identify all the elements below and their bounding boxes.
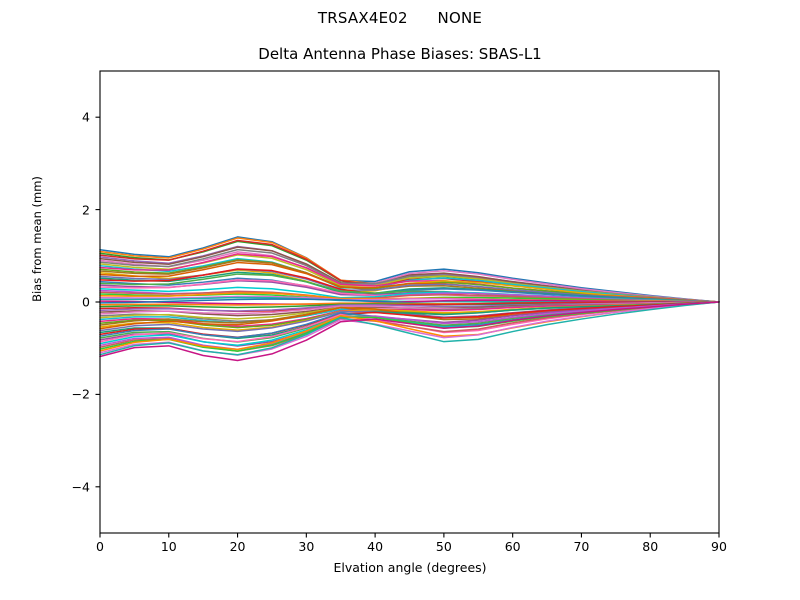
y-axis-label: Bias from mean (mm) <box>30 169 44 309</box>
figure-canvas: TRSAX4E02 NONE Delta Antenna Phase Biase… <box>0 0 800 600</box>
x-tick-label: 40 <box>367 539 383 554</box>
x-tick-label: 10 <box>161 539 177 554</box>
x-tick-label: 0 <box>96 539 104 554</box>
y-tick-label: 2 <box>50 202 90 217</box>
x-tick-label: 30 <box>298 539 314 554</box>
line-chart-plot <box>0 0 800 600</box>
y-tick-label: 4 <box>50 110 90 125</box>
x-tick-label: 80 <box>642 539 658 554</box>
x-tick-label: 20 <box>230 539 246 554</box>
x-tick-label: 50 <box>436 539 452 554</box>
y-tick-label: −4 <box>50 479 90 494</box>
y-tick-label: −2 <box>50 387 90 402</box>
x-tick-label: 60 <box>505 539 521 554</box>
y-tick-label: 0 <box>50 295 90 310</box>
x-axis-label: Elvation angle (degrees) <box>100 560 720 575</box>
x-tick-label: 70 <box>573 539 589 554</box>
x-tick-label: 90 <box>711 539 727 554</box>
data-line-group <box>100 237 719 361</box>
